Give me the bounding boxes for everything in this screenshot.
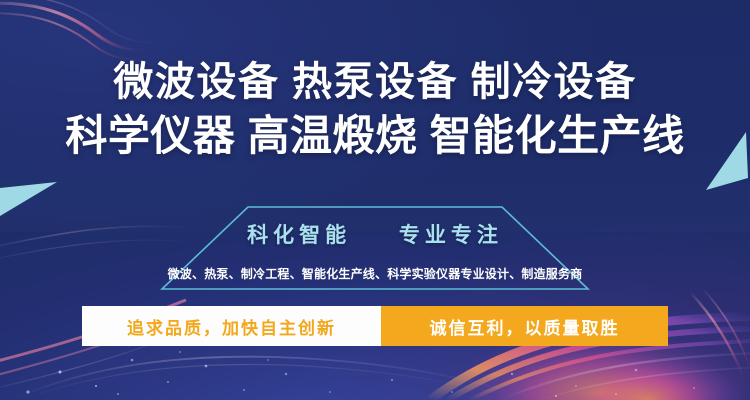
band-slogan-left: 科化智能 bbox=[247, 224, 351, 247]
triangle-left-icon bbox=[0, 178, 58, 218]
slogan-pill-group: 追求品质，加快自主创新 诚信互利，以质量取胜 bbox=[82, 306, 668, 346]
slogan-pill-right: 诚信互利，以质量取胜 bbox=[381, 306, 668, 346]
headline-line-1: 微波设备 热泵设备 制冷设备 bbox=[0, 62, 750, 103]
banner-headline: 微波设备 热泵设备 制冷设备 科学仪器 高温煅烧 智能化生产线 bbox=[0, 62, 750, 158]
banner-description: 微波、热泵、制冷工程、智能化生产线、科学实验仪器专业设计、制造服务商 bbox=[140, 265, 610, 282]
slogan-pill-left: 追求品质，加快自主创新 bbox=[82, 306, 381, 346]
band-slogan-text: 科化智能 专业专注 bbox=[160, 219, 590, 249]
promo-banner: 微波设备 热泵设备 制冷设备 科学仪器 高温煅烧 智能化生产线 科化智能 专业专… bbox=[0, 0, 750, 400]
headline-line-2: 科学仪器 高温煅烧 智能化生产线 bbox=[0, 115, 750, 158]
band-slogan-right: 专业专注 bbox=[399, 224, 503, 247]
